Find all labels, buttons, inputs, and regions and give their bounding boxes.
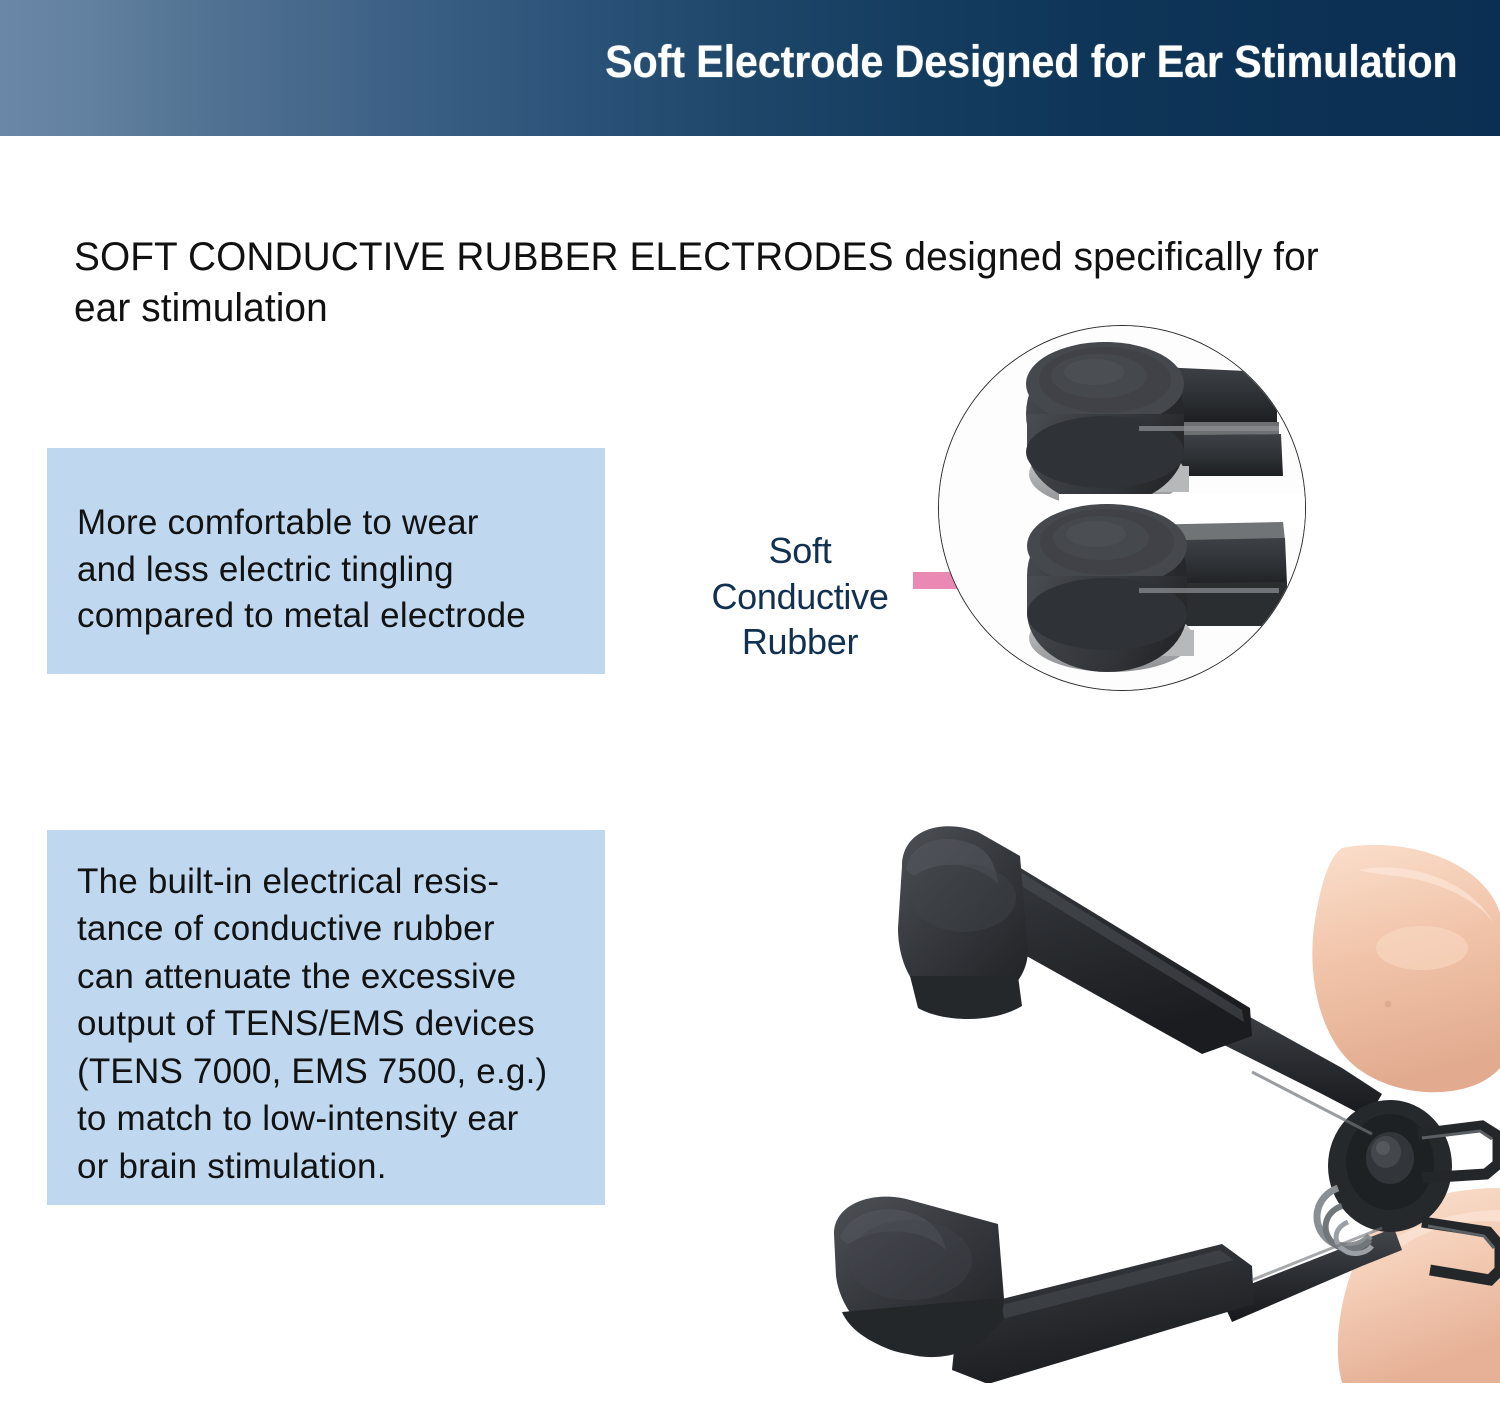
annotation-label: Soft Conductive Rubber — [700, 528, 900, 665]
callout-line: output of TENS/EMS devices — [77, 1000, 605, 1047]
callout-line: (TENS 7000, EMS 7500, e.g.) — [77, 1048, 605, 1095]
callout-line: tance of conductive rubber — [77, 905, 605, 952]
callout-line: More comfortable to wear — [77, 500, 605, 547]
callout-line: can attenuate the excessive — [77, 953, 605, 1000]
callout-line: or brain stimulation. — [77, 1143, 605, 1190]
annotation-line: Conductive — [700, 574, 900, 620]
subtitle-heading: SOFT CONDUCTIVE RUBBER ELECTRODES design… — [74, 232, 1364, 334]
callout-line: to match to low-intensity ear — [77, 1095, 605, 1142]
callout-line: and less electric tingling — [77, 547, 605, 594]
comfort-callout: More comfortable to wear and less electr… — [47, 448, 605, 674]
callout-line: compared to metal electrode — [77, 593, 605, 640]
electrode-closeup-photo — [938, 325, 1306, 691]
page-title: Soft Electrode Designed for Ear Stimulat… — [606, 36, 1458, 88]
annotation-line: Soft — [700, 528, 900, 574]
ear-clip-electrode-photo — [782, 818, 1500, 1383]
resistance-callout: The built-in electrical resis- tance of … — [47, 830, 605, 1205]
annotation-line: Rubber — [700, 619, 900, 665]
header-banner: Soft Electrode Designed for Ear Stimulat… — [0, 0, 1500, 136]
electrode-closeup-illustration — [939, 326, 1306, 691]
ear-clip-illustration — [782, 818, 1500, 1383]
callout-line: The built-in electrical resis- — [77, 858, 605, 905]
